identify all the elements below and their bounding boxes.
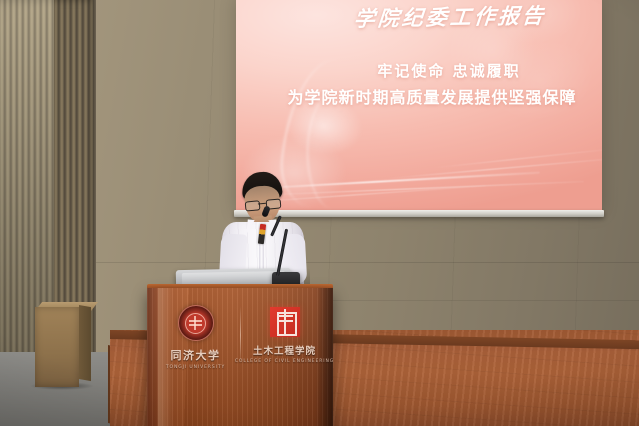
glasses-bridge	[258, 203, 266, 205]
emblem-center-bar	[284, 309, 286, 335]
college-name-cn: 土木工程学院	[253, 343, 316, 357]
slat-wall-edge	[93, 0, 96, 372]
slide-subtitle-line-2: 为学院新时期高质量发展提供坚强保障	[236, 84, 602, 108]
lecture-hall-photo: 学院纪委工作报告 牢记使命 忠诚履职 为学院新时期高质量发展提供坚强保障	[0, 0, 639, 426]
speaker-collar-left	[246, 219, 260, 235]
university-logo: 同济大学 TONGJI UNIVERSITY	[152, 300, 240, 378]
wall-panel-seam-lower	[330, 300, 639, 301]
seal-inner-mark	[185, 313, 206, 334]
university-name-en: TONGJI UNIVERSITY	[166, 365, 225, 370]
lens-left	[245, 200, 261, 211]
podium-logo-row: 同济大学 TONGJI UNIVERSITY 土木工程学院 COLLEGE OF…	[147, 300, 333, 378]
slide-subtitle-line-1: 牢记使命 忠诚履职	[236, 60, 602, 81]
college-logo: 土木工程学院 COLLEGE OF CIVIL ENGINEERING	[241, 300, 329, 378]
tongji-seal-icon	[178, 305, 214, 341]
university-name-cn: 同济大学	[171, 347, 221, 363]
wooden-cabinet	[35, 307, 79, 387]
college-name-en: COLLEGE OF CIVIL ENGINEERING	[235, 359, 334, 364]
wall-panel-seam	[90, 262, 639, 263]
civil-engineering-emblem-icon	[270, 307, 300, 337]
cabinet-side	[79, 305, 91, 381]
